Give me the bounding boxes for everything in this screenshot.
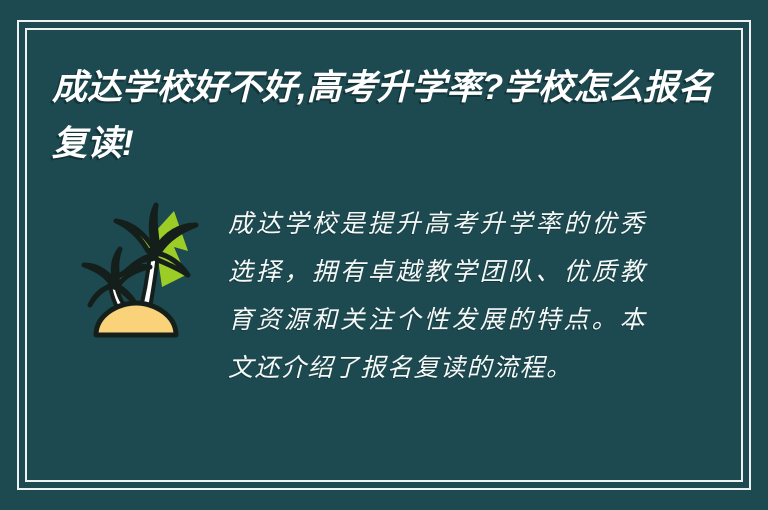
- page-title: 成达学校好不好,高考升学率?学校怎么报名复读!: [52, 60, 732, 172]
- palm-tree-island-icon: [70, 193, 206, 343]
- article-cover-card: 成达学校好不好,高考升学率?学校怎么报名复读!: [0, 0, 768, 510]
- sand-mound: [96, 303, 176, 335]
- summary-paragraph: 成达学校是提升高考升学率的优秀选择，拥有卓越教学团队、优质教育资源和关注个性发展…: [228, 200, 646, 392]
